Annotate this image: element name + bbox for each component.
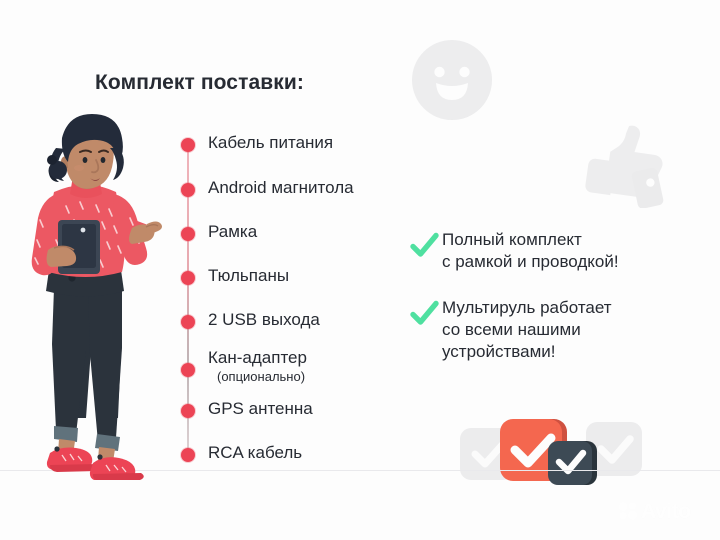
bullet-dot-icon xyxy=(181,448,195,462)
bullet-dot-icon xyxy=(181,138,195,152)
benefit-line-1: Мультируль работает xyxy=(442,297,612,319)
list-item-label: GPS антенна xyxy=(208,400,313,418)
benefit-line-3: устройствами! xyxy=(442,341,612,363)
promo-canvas: Комплект поставки: Кабель питания Androi… xyxy=(0,0,720,540)
avito-wordmark: Avito xyxy=(641,501,691,522)
list-item-label: Тюльпаны xyxy=(208,267,289,285)
benefit-line-2: с рамкой и проводкой! xyxy=(442,251,619,273)
list-item-label: Android магнитола xyxy=(208,179,354,197)
woman-pointing-illustration xyxy=(10,108,180,480)
bullet-dot-icon xyxy=(181,315,195,329)
list-item-label: Рамка xyxy=(208,223,257,241)
smiley-face-icon xyxy=(411,39,493,121)
list-item-label: Кабель питания xyxy=(208,134,333,152)
list-item-label: 2 USB выхода xyxy=(208,311,320,329)
benefit-line-2: со всеми нашими xyxy=(442,319,612,341)
list-item-sublabel: (опционально) xyxy=(217,369,305,384)
bullet-dot-icon xyxy=(181,363,195,377)
list-item-label: Кан-адаптер xyxy=(208,349,307,367)
avito-watermark: Avito xyxy=(618,497,708,525)
avito-logo-icon xyxy=(618,501,638,521)
bullet-dot-icon xyxy=(181,404,195,418)
list-item-label: RCA кабель xyxy=(208,444,302,462)
benefit-text-2: Мультируль работает со всеми нашими устр… xyxy=(442,297,612,362)
checkbox-cards-illustration xyxy=(458,406,642,498)
benefit-line-1: Полный комплект xyxy=(442,229,619,251)
benefit-text-1: Полный комплект с рамкой и проводкой! xyxy=(442,229,619,273)
bullet-dot-icon xyxy=(181,271,195,285)
green-check-icon xyxy=(409,231,439,261)
bullet-dot-icon xyxy=(181,183,195,197)
page-title: Комплект поставки: xyxy=(95,71,304,95)
package-list: Кабель питания Android магнитола Рамка Т… xyxy=(175,128,425,468)
thumbs-up-icon xyxy=(580,116,672,208)
green-check-icon xyxy=(409,299,439,329)
bullet-dot-icon xyxy=(181,227,195,241)
